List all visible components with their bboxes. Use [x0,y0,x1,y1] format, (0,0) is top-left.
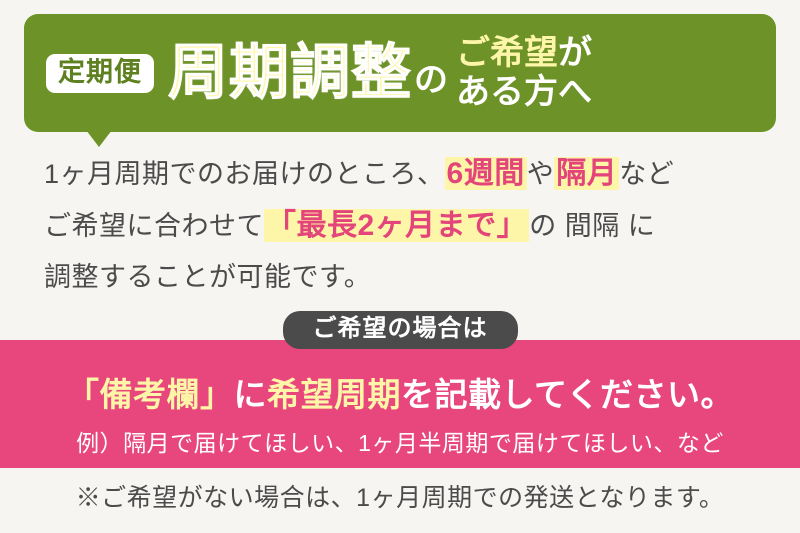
banner-subtitle-line1: ご希望が [456,34,592,73]
description-line-2: ご希望に合わせて「最長2ヶ月まで」の 間隔 に [44,200,768,252]
pink-headline-part-2: に [233,376,267,413]
banner-particle: の [414,63,448,97]
description-emphasis-max2months: 「最長2ヶ月まで」 [264,209,529,242]
footer-note: ※ご希望がない場合は、1ヶ月周期での発送となります。 [0,478,800,514]
description-line-1-part-5: など [619,159,674,189]
description-line-2-part-1: ご希望に合わせて [44,211,264,241]
description-line-1: 1ヶ月周期でのお届けのところ、6週間や隔月など [44,148,768,200]
pink-callout-example: 例）隔月で届けてほしい、1ヶ月半周期で届けてほしい、など [0,424,800,458]
description-line-2-part-3: の 間隔 に [529,211,655,241]
description-line-1-part-3: や [527,159,555,189]
header-banner: 定期便 周期調整 の ご希望が ある方へ [24,14,776,132]
banner-subtitle-highlight: ご希望 [456,34,558,72]
pink-callout-headline: 「備考欄」に希望周期を記載してください。 [0,368,800,416]
description-emphasis-bimonthly: 隔月 [554,157,619,190]
banner-main-title: 周期調整 [168,43,412,103]
pink-headline-remarks-field: 「備考欄」 [66,376,234,413]
description-line-3: 調整することが可能です。 [44,252,768,303]
pink-headline-part-4: を記載してください。 [401,376,734,413]
pill-label: ご希望の場合は [283,311,518,349]
description-paragraph: 1ヶ月周期でのお届けのところ、6週間や隔月など ご希望に合わせて「最長2ヶ月まで… [44,148,768,303]
banner-subtitle-line2: ある方へ [456,73,592,112]
banner-pointer-triangle [86,130,112,147]
banner-subtitle: ご希望が ある方へ [456,34,592,113]
description-emphasis-6weeks: 6週間 [445,157,527,190]
banner-chip-label: 定期便 [46,54,154,93]
pink-headline-desired-cycle: 希望周期 [267,376,401,413]
description-line-1-part-1: 1ヶ月周期でのお届けのところ、 [44,159,445,189]
banner-inner: 定期便 周期調整 の ご希望が ある方へ [24,14,776,132]
banner-subtitle-tail: が [558,34,592,72]
pill-container: ご希望の場合は [0,311,800,349]
